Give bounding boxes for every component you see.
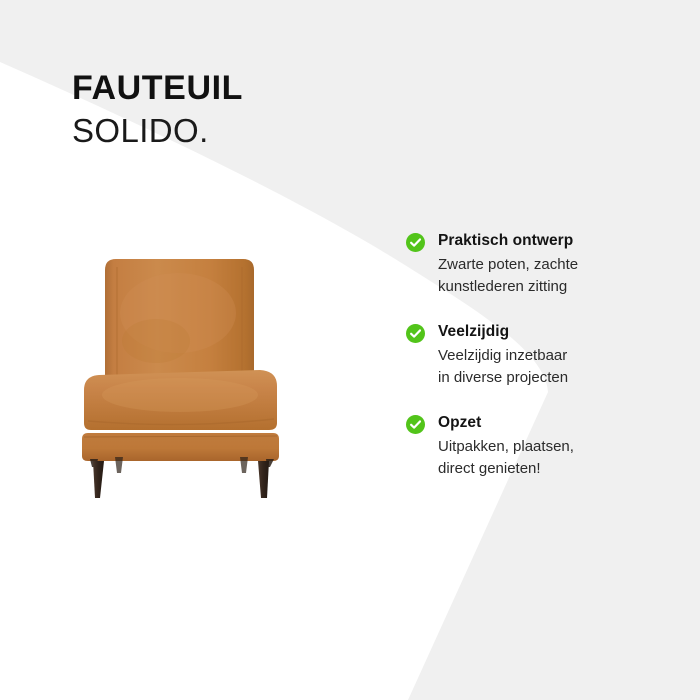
- product-banner: FAUTEUIL SOLIDO.: [0, 0, 700, 700]
- feature-body: Zwarte poten, zachte kunstlederen zittin…: [438, 254, 676, 298]
- feature-title: Veelzijdig: [438, 322, 676, 342]
- feature-title: Praktisch ontwerp: [438, 231, 676, 251]
- feature-item: Opzet Uitpakken, plaatsen, direct geniet…: [406, 413, 676, 480]
- feature-title: Opzet: [438, 413, 676, 433]
- feature-list: Praktisch ontwerp Zwarte poten, zachte k…: [406, 231, 676, 480]
- title-sub: SOLIDO.: [72, 110, 243, 152]
- product-image: [60, 245, 350, 515]
- check-circle-icon: [406, 415, 425, 434]
- check-circle-icon: [406, 233, 425, 252]
- feature-item: Praktisch ontwerp Zwarte poten, zachte k…: [406, 231, 676, 298]
- feature-item: Veelzijdig Veelzijdig inzetbaar in diver…: [406, 322, 676, 389]
- page-title: FAUTEUIL SOLIDO.: [72, 68, 243, 152]
- check-circle-icon: [406, 324, 425, 343]
- feature-body: Veelzijdig inzetbaar in diverse projecte…: [438, 345, 676, 389]
- title-main: FAUTEUIL: [72, 68, 243, 108]
- armchair-illustration: [60, 245, 350, 515]
- feature-body: Uitpakken, plaatsen, direct genieten!: [438, 436, 676, 480]
